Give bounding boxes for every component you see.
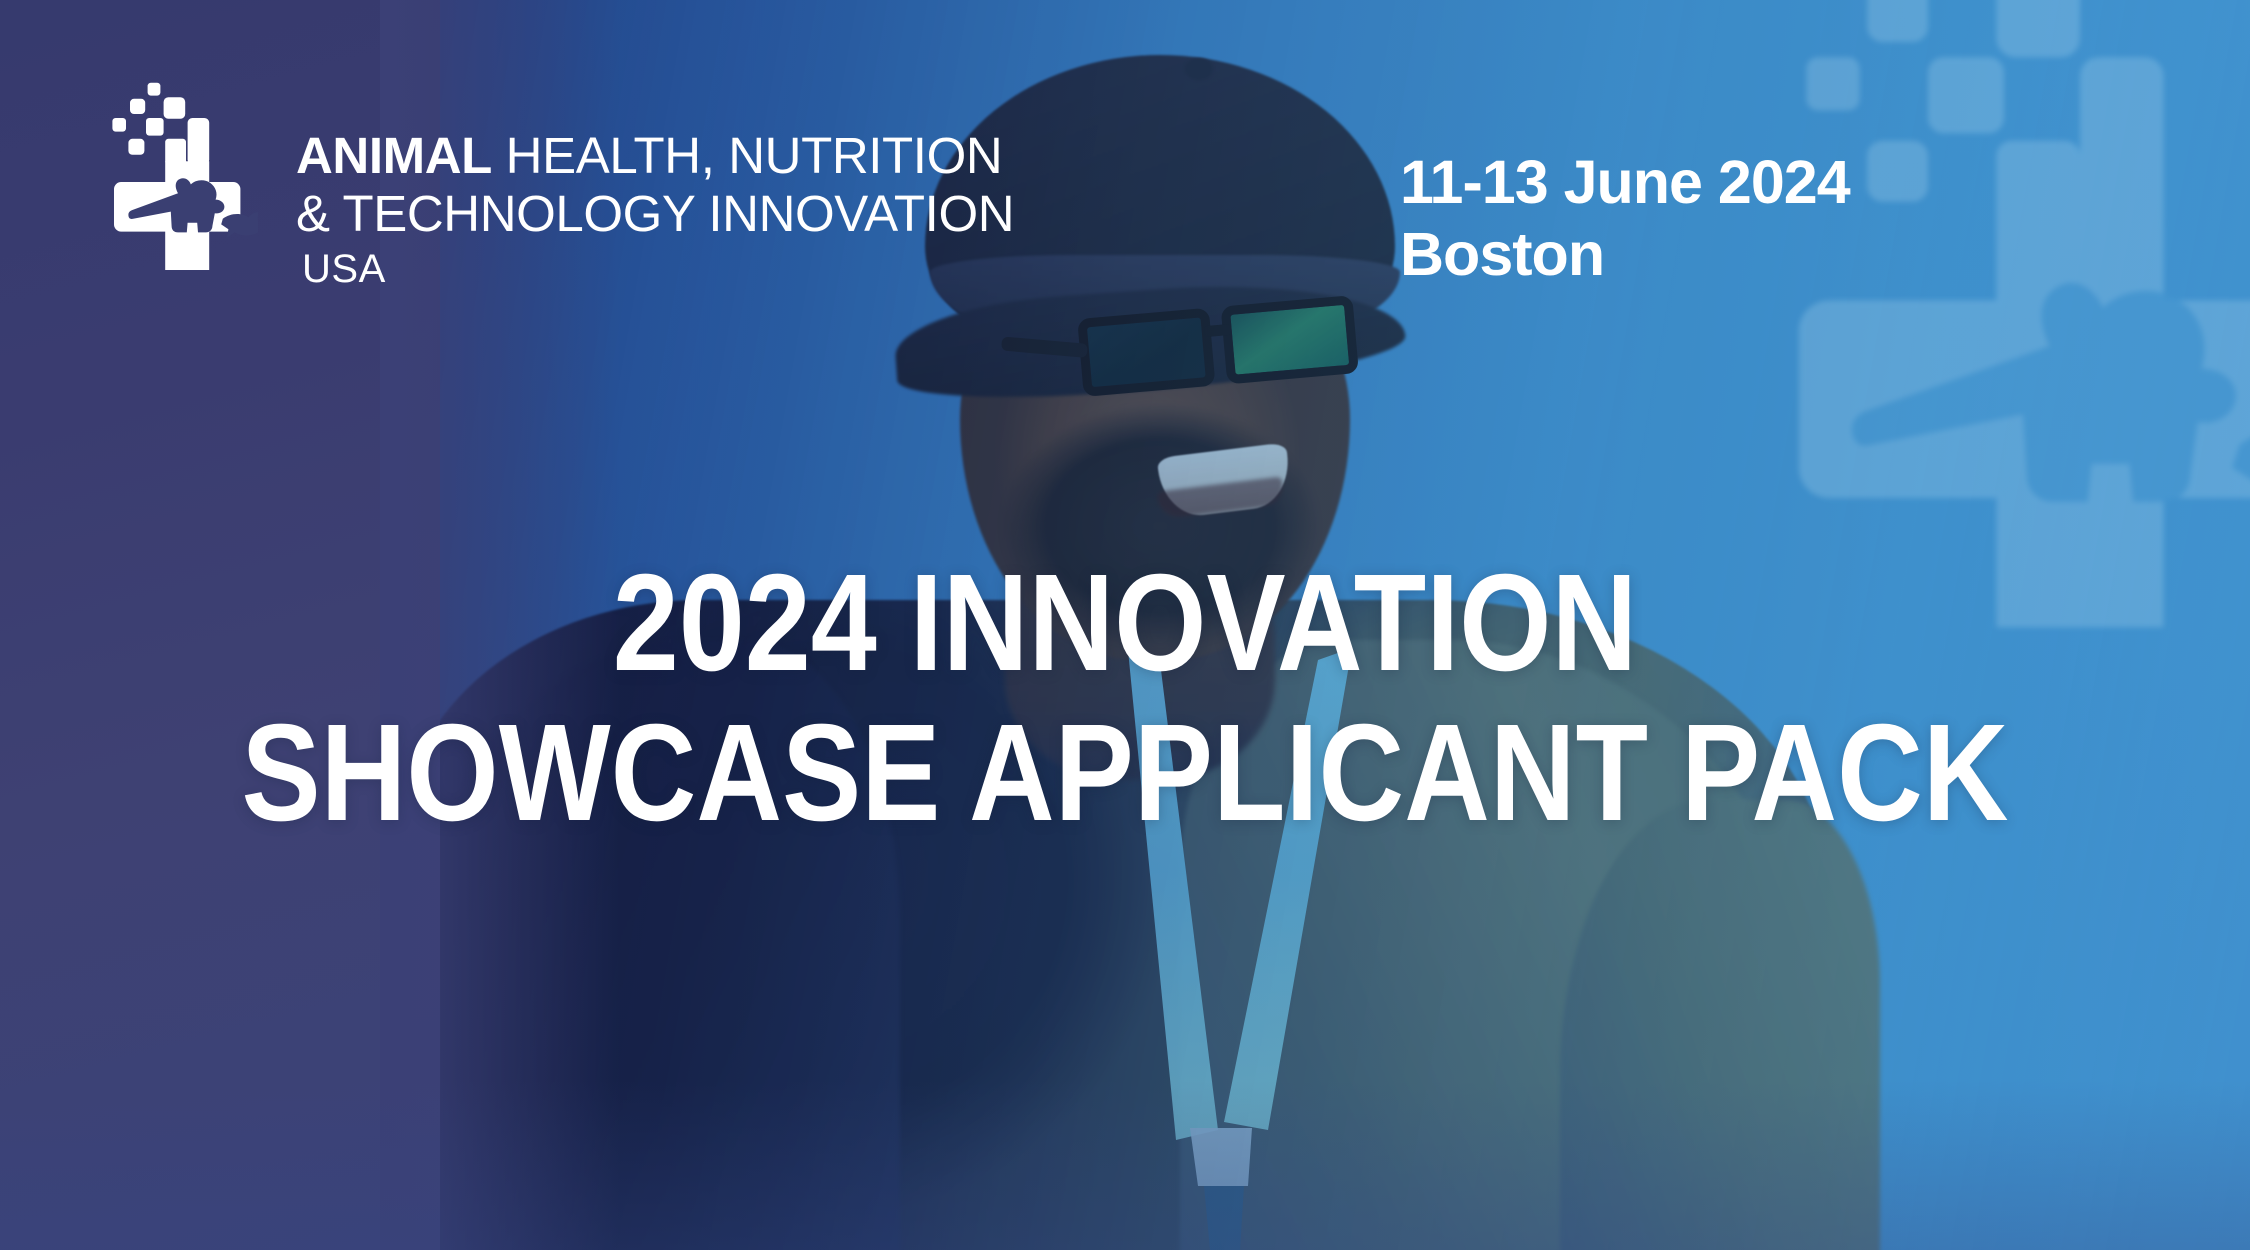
background-bottom-fade [0,1080,2250,1250]
brand-line-2: & TECHNOLOGY INNOVATION [296,188,1014,239]
event-date: 11-13 June 2024 [1400,148,1850,216]
brand-logo-text: ANIMAL HEALTH, NUTRITION & TECHNOLOGY IN… [296,78,1014,289]
brand-line-1: ANIMAL HEALTH, NUTRITION [296,130,1014,181]
event-city: Boston [1400,220,1850,288]
brand-line-3-region: USA [296,249,1014,289]
animal-health-cross-logo-icon [98,78,258,278]
page-title-line-1: 2024 INNOVATION [158,548,2093,698]
page-title-line-2: SHOWCASE APPLICANT PACK [158,698,2093,848]
slide-header: ANIMAL HEALTH, NUTRITION & TECHNOLOGY IN… [0,0,2250,300]
page-title: 2024 INNOVATION SHOWCASE APPLICANT PACK [0,548,2250,849]
cover-slide: ANIMAL HEALTH, NUTRITION & TECHNOLOGY IN… [0,0,2250,1250]
brand-logo-lockup: ANIMAL HEALTH, NUTRITION & TECHNOLOGY IN… [98,78,1014,289]
brand-line-1-rest: HEALTH, NUTRITION [492,127,1002,184]
brand-word-animal: ANIMAL [296,127,492,184]
event-details: 11-13 June 2024 Boston [1400,148,1850,289]
